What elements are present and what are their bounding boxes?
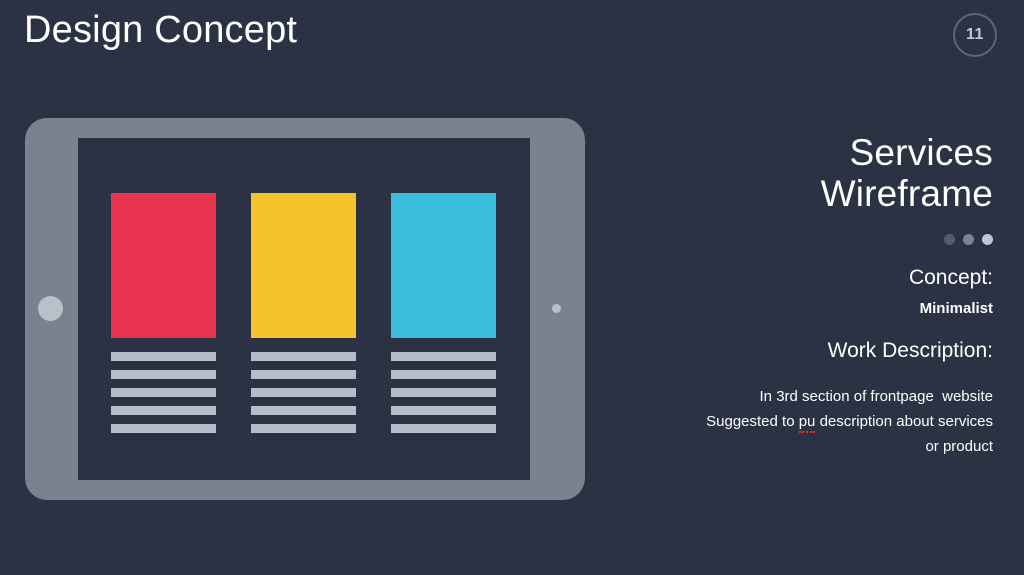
spellcheck-misspelled-word: pu bbox=[799, 413, 816, 433]
wireframe-text-line bbox=[391, 406, 496, 415]
concept-label: Concept: bbox=[593, 265, 993, 291]
wireframe-column bbox=[391, 193, 496, 433]
description-line-2-pre: Suggested to bbox=[706, 413, 799, 430]
wireframe-text-line bbox=[111, 424, 216, 433]
description-line-3: or product bbox=[593, 434, 993, 459]
wireframe-text-line bbox=[111, 370, 216, 379]
wireframe-text-line bbox=[251, 352, 356, 361]
wireframe-text-line bbox=[111, 352, 216, 361]
info-panel: Services Wireframe Concept: Minimalist W… bbox=[593, 132, 993, 459]
wireframe-text-line bbox=[111, 406, 216, 415]
wireframe-text-line bbox=[251, 424, 356, 433]
wireframe-text-line bbox=[391, 388, 496, 397]
info-heading-line-1: Services bbox=[593, 132, 993, 173]
tablet-screen bbox=[78, 138, 530, 480]
wireframe-text-line bbox=[111, 388, 216, 397]
wireframe-text-lines bbox=[251, 352, 356, 433]
wireframe-card-image bbox=[111, 193, 216, 338]
wireframe-text-line bbox=[251, 370, 356, 379]
wireframe-card-image bbox=[251, 193, 356, 338]
wireframe-columns bbox=[78, 138, 530, 480]
dot-indicator bbox=[963, 234, 974, 245]
wireframe-text-lines bbox=[391, 352, 496, 433]
dot-indicator-group bbox=[593, 234, 993, 245]
work-description-label: Work Description: bbox=[593, 338, 993, 364]
wireframe-text-line bbox=[251, 406, 356, 415]
page-title: Design Concept bbox=[24, 6, 297, 54]
tablet-device-mockup bbox=[25, 118, 585, 500]
wireframe-column bbox=[111, 193, 216, 433]
wireframe-text-line bbox=[391, 352, 496, 361]
tablet-camera-icon bbox=[552, 304, 561, 313]
tablet-home-button-icon bbox=[38, 296, 63, 321]
slide-number-label: 11 bbox=[966, 27, 984, 43]
wireframe-column bbox=[251, 193, 356, 433]
description-line-2: Suggested to pu description about servic… bbox=[593, 409, 993, 434]
work-description-body: In 3rd section of frontpage website Sugg… bbox=[593, 384, 993, 459]
description-line-2-post: description about services bbox=[815, 413, 993, 430]
concept-value: Minimalist bbox=[593, 299, 993, 318]
wireframe-card-image bbox=[391, 193, 496, 338]
description-line-1: In 3rd section of frontpage website bbox=[593, 384, 993, 409]
slide-number-badge: 11 bbox=[953, 13, 997, 57]
dot-indicator bbox=[944, 234, 955, 245]
wireframe-text-line bbox=[391, 424, 496, 433]
wireframe-text-line bbox=[391, 370, 496, 379]
wireframe-text-lines bbox=[111, 352, 216, 433]
info-heading-line-2: Wireframe bbox=[593, 173, 993, 214]
wireframe-text-line bbox=[251, 388, 356, 397]
slide-canvas: Design Concept 11 bbox=[0, 0, 1024, 575]
dot-indicator bbox=[982, 234, 993, 245]
